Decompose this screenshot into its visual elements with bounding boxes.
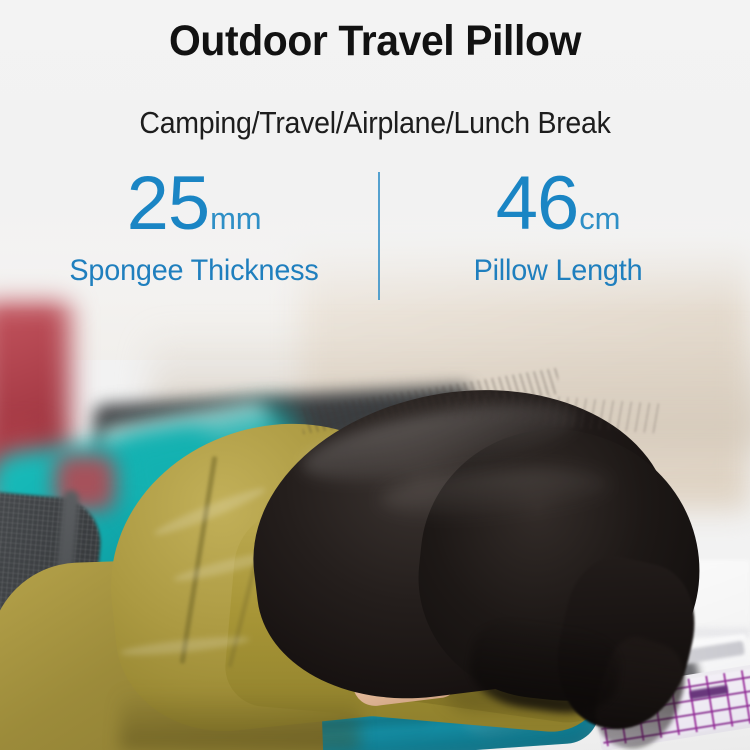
spec-thickness-unit: mm (210, 201, 261, 236)
spec-thickness-value-row: 25mm (24, 166, 364, 242)
spec-length: 46cm Pillow Length (388, 166, 728, 288)
specs-divider (378, 172, 380, 300)
spec-thickness-value: 25 (127, 161, 210, 246)
header-panel: Outdoor Travel Pillow Camping/Travel/Air… (0, 0, 750, 312)
specs-row: 25mm Spongee Thickness 46cm Pillow Lengt… (0, 166, 750, 306)
spec-thickness: 25mm Spongee Thickness (24, 166, 364, 288)
spec-length-value-row: 46cm (388, 166, 728, 242)
subtitle: Camping/Travel/Airplane/Lunch Break (30, 104, 720, 142)
spec-length-caption: Pillow Length (395, 254, 721, 288)
jacket-shadow-1 (120, 690, 360, 750)
product-banner: Naturehike (0, 0, 750, 750)
spec-length-value: 46 (496, 161, 579, 246)
page-title: Outdoor Travel Pillow (19, 16, 732, 66)
spec-thickness-caption: Spongee Thickness (31, 254, 357, 288)
spec-length-unit: cm (579, 201, 620, 236)
